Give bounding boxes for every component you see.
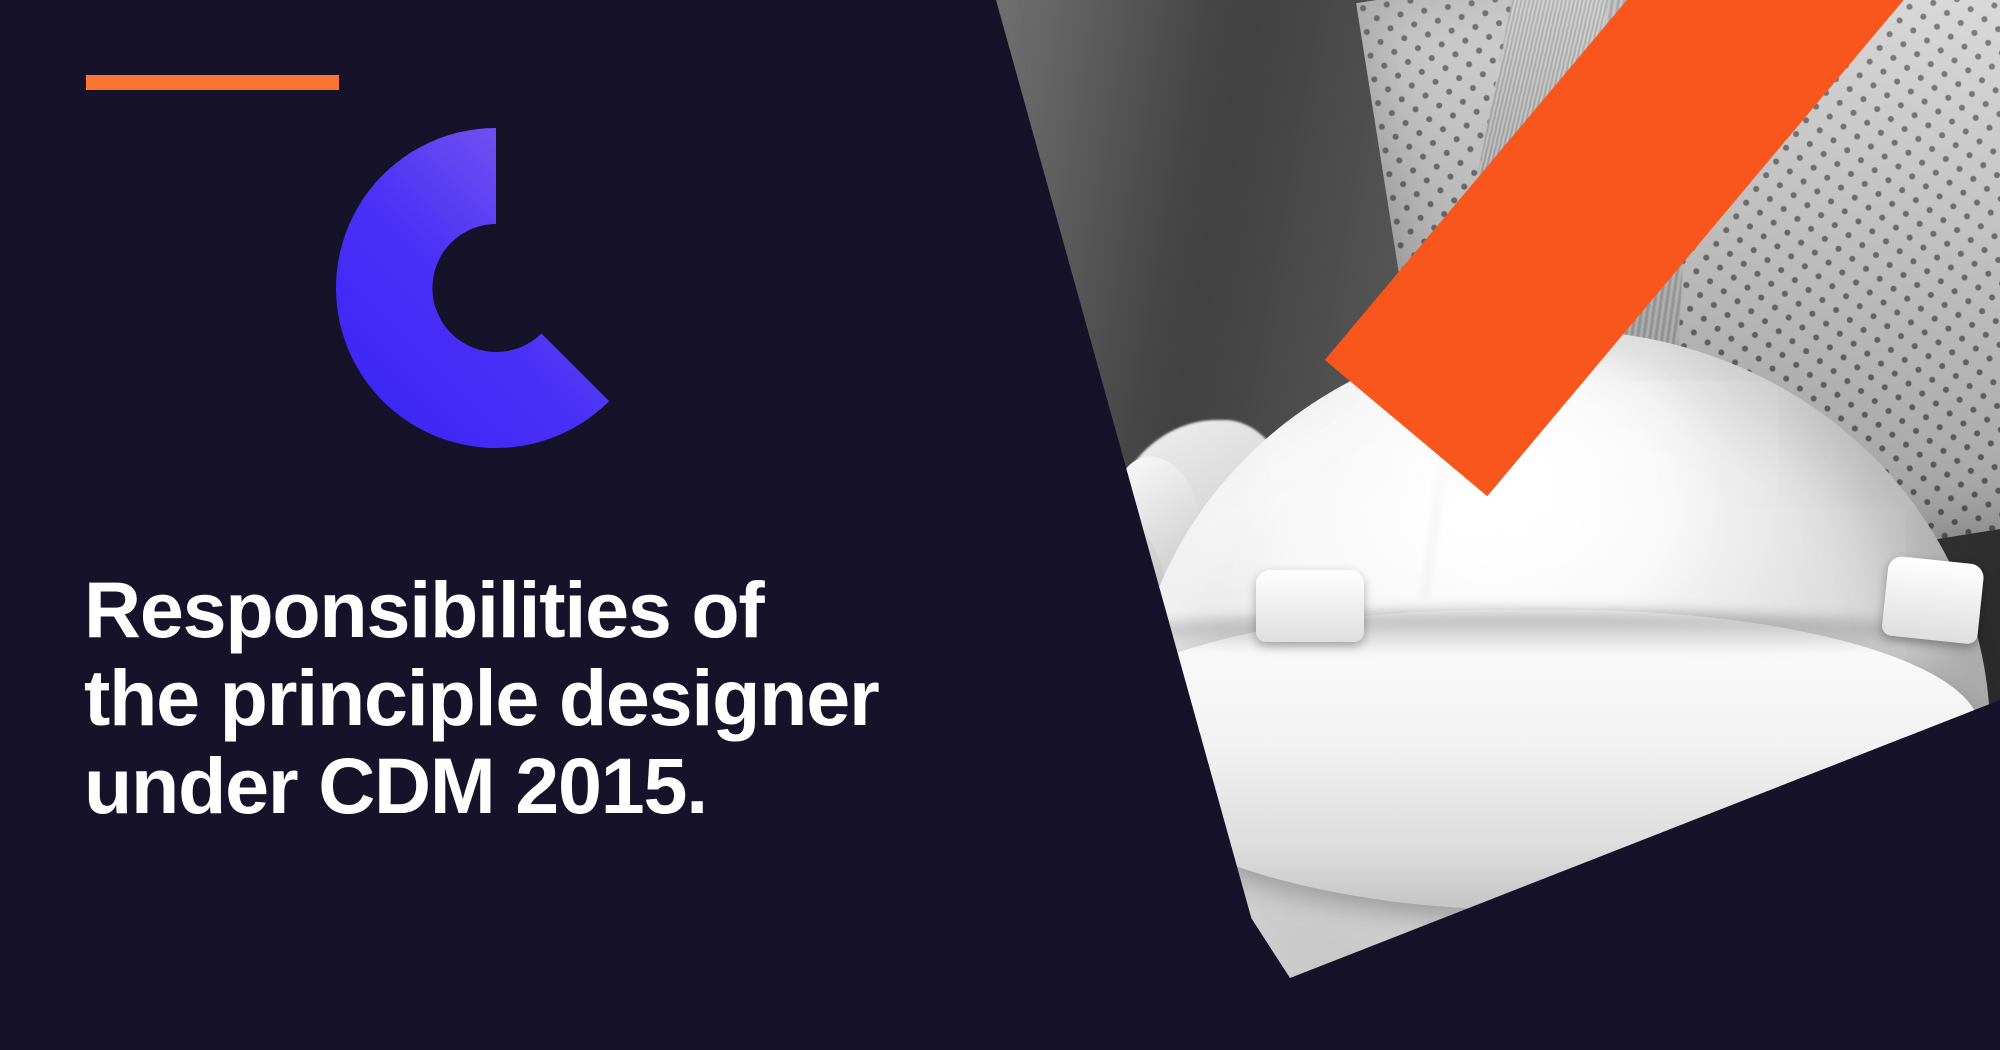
hard-hat-clip-left: [1256, 570, 1364, 642]
title-card: Responsibilities of the principle design…: [0, 0, 2000, 1050]
page-title: Responsibilities of the principle design…: [84, 566, 984, 830]
headline-line-3: under CDM 2015.: [84, 742, 984, 830]
arc-icon: [316, 108, 676, 468]
orange-accent-rule: [86, 75, 339, 90]
hard-hat-clip-right: [1881, 555, 1985, 645]
purple-arc-mark: [316, 108, 676, 468]
headline-line-2: the principle designer: [84, 654, 984, 742]
headline-line-1: Responsibilities of: [84, 566, 984, 654]
hard-hat-brim-shadow: [1120, 612, 1950, 654]
